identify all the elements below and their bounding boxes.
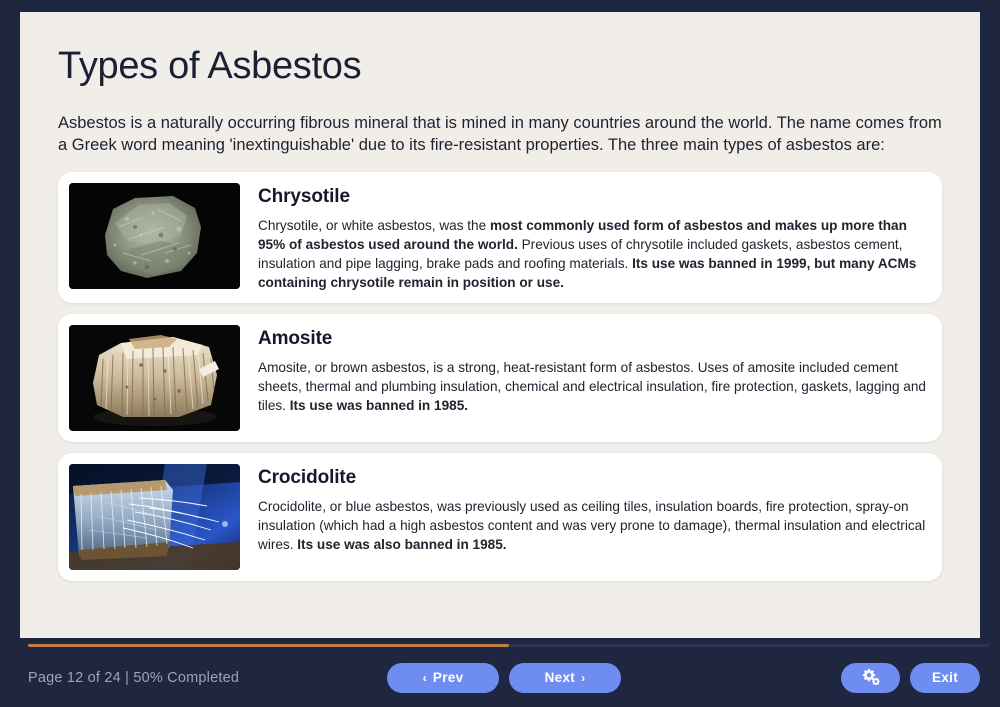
chrysotile-rock-photo [69, 183, 240, 289]
list-item[interactable]: Amosite Amosite, or brown asbestos, is a… [58, 314, 942, 442]
slide-content-area: Types of Asbestos Asbestos is a naturall… [20, 12, 980, 638]
card-body: Chrysotile Chrysotile, or white asbestos… [258, 183, 930, 292]
list-item[interactable]: Crocidolite Crocidolite, or blue asbesto… [58, 453, 942, 581]
card-description: Chrysotile, or white asbestos, was the m… [258, 217, 930, 292]
crocidolite-rock-photo [69, 464, 240, 570]
card-body: Crocidolite Crocidolite, or blue asbesto… [258, 464, 930, 554]
amosite-rock-photo [69, 325, 240, 431]
card-title: Crocidolite [258, 467, 930, 489]
footer-right-group: Exit [841, 663, 980, 693]
exit-button-label: Exit [932, 670, 958, 685]
list-item[interactable]: Chrysotile Chrysotile, or white asbestos… [58, 172, 942, 303]
card-title: Amosite [258, 328, 930, 350]
card-description: Amosite, or brown asbestos, is a strong,… [258, 359, 930, 415]
prev-button[interactable]: ‹ Prev [387, 663, 499, 693]
page-title: Types of Asbestos [58, 46, 942, 88]
page-status-text: Page 12 of 24 | 50% Completed [28, 670, 239, 686]
exit-button[interactable]: Exit [910, 663, 980, 693]
next-button[interactable]: Next › [509, 663, 621, 693]
player-footer: Page 12 of 24 | 50% Completed ‹ Prev Nex… [0, 638, 1000, 707]
chevron-left-icon: ‹ [423, 672, 427, 684]
prev-button-label: Prev [433, 670, 463, 685]
cogs-icon [861, 668, 880, 688]
intro-paragraph: Asbestos is a naturally occurring fibrou… [58, 112, 942, 157]
settings-button[interactable] [841, 663, 900, 693]
card-title: Chrysotile [258, 186, 930, 208]
course-progress-fill [28, 644, 509, 647]
asbestos-type-card-list: Chrysotile Chrysotile, or white asbestos… [58, 172, 942, 581]
course-player-frame: Types of Asbestos Asbestos is a naturall… [0, 0, 1000, 707]
card-body: Amosite Amosite, or brown asbestos, is a… [258, 325, 930, 415]
card-description: Crocidolite, or blue asbestos, was previ… [258, 498, 930, 554]
chevron-right-icon: › [581, 672, 585, 684]
course-progress-bar [28, 644, 990, 647]
next-button-label: Next [545, 670, 575, 685]
footer-inner: Page 12 of 24 | 50% Completed ‹ Prev Nex… [28, 648, 980, 707]
